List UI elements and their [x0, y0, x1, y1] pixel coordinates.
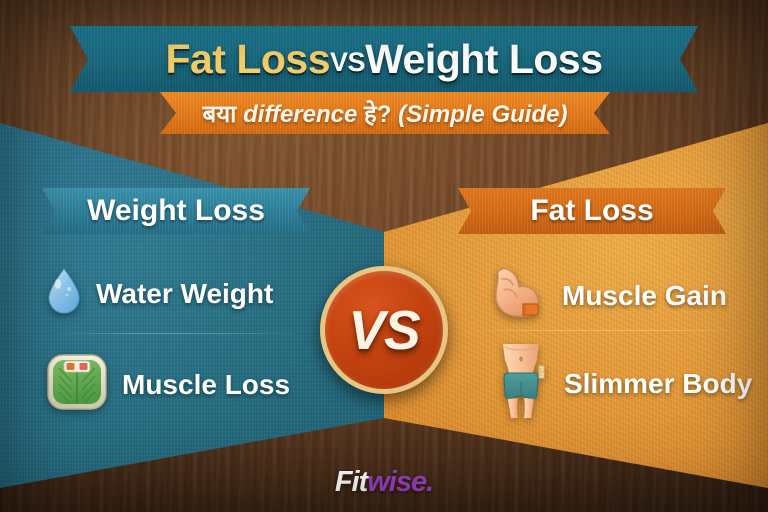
vs-label: VS — [348, 298, 419, 362]
list-item-label: Muscle Loss — [122, 369, 290, 401]
left-divider — [52, 333, 302, 334]
title-fat-loss: Fat Loss — [165, 36, 330, 82]
title-ribbon: Fat LossVSWeight Loss — [70, 26, 698, 92]
logo-fit: Fit — [335, 466, 367, 498]
page-subtitle: बया difference हे? (Simple Guide) — [203, 97, 568, 130]
fat-loss-heading-ribbon: Fat Loss — [458, 188, 726, 234]
list-item-label: Muscle Gain — [562, 280, 727, 312]
weight-loss-heading-ribbon: Weight Loss — [42, 188, 310, 234]
title-vs: VS — [330, 47, 365, 77]
slim-waist-icon — [492, 344, 550, 423]
water-drop-icon — [46, 268, 82, 319]
subtitle-hindi-1: बया — [203, 101, 237, 128]
title-weight-loss: Weight Loss — [365, 36, 602, 82]
list-item-label: Slimmer Body — [564, 368, 752, 400]
fat-loss-heading: Fat Loss — [530, 194, 653, 228]
right-divider — [462, 330, 752, 331]
list-item: Slimmer Body — [492, 344, 752, 423]
subtitle-simple-guide: (Simple Guide) — [398, 101, 567, 128]
logo-wise: wise. — [367, 466, 433, 498]
list-item: Muscle Gain — [492, 266, 727, 325]
fitwise-logo: Fitwise. — [0, 466, 768, 499]
subtitle-difference: difference — [243, 101, 357, 128]
list-item: Muscle Loss — [46, 352, 290, 417]
vs-badge: VS — [320, 266, 448, 394]
page-title: Fat LossVSWeight Loss — [165, 36, 602, 83]
subtitle-ribbon: बया difference हे? (Simple Guide) — [160, 92, 610, 134]
flexed-bicep-icon — [492, 266, 548, 325]
subtitle-hindi-2: हे? — [364, 101, 391, 128]
list-item-label: Water Weight — [96, 278, 273, 310]
weighing-scale-icon — [46, 352, 108, 417]
list-item: Water Weight — [46, 268, 273, 319]
weight-loss-heading: Weight Loss — [87, 194, 265, 228]
